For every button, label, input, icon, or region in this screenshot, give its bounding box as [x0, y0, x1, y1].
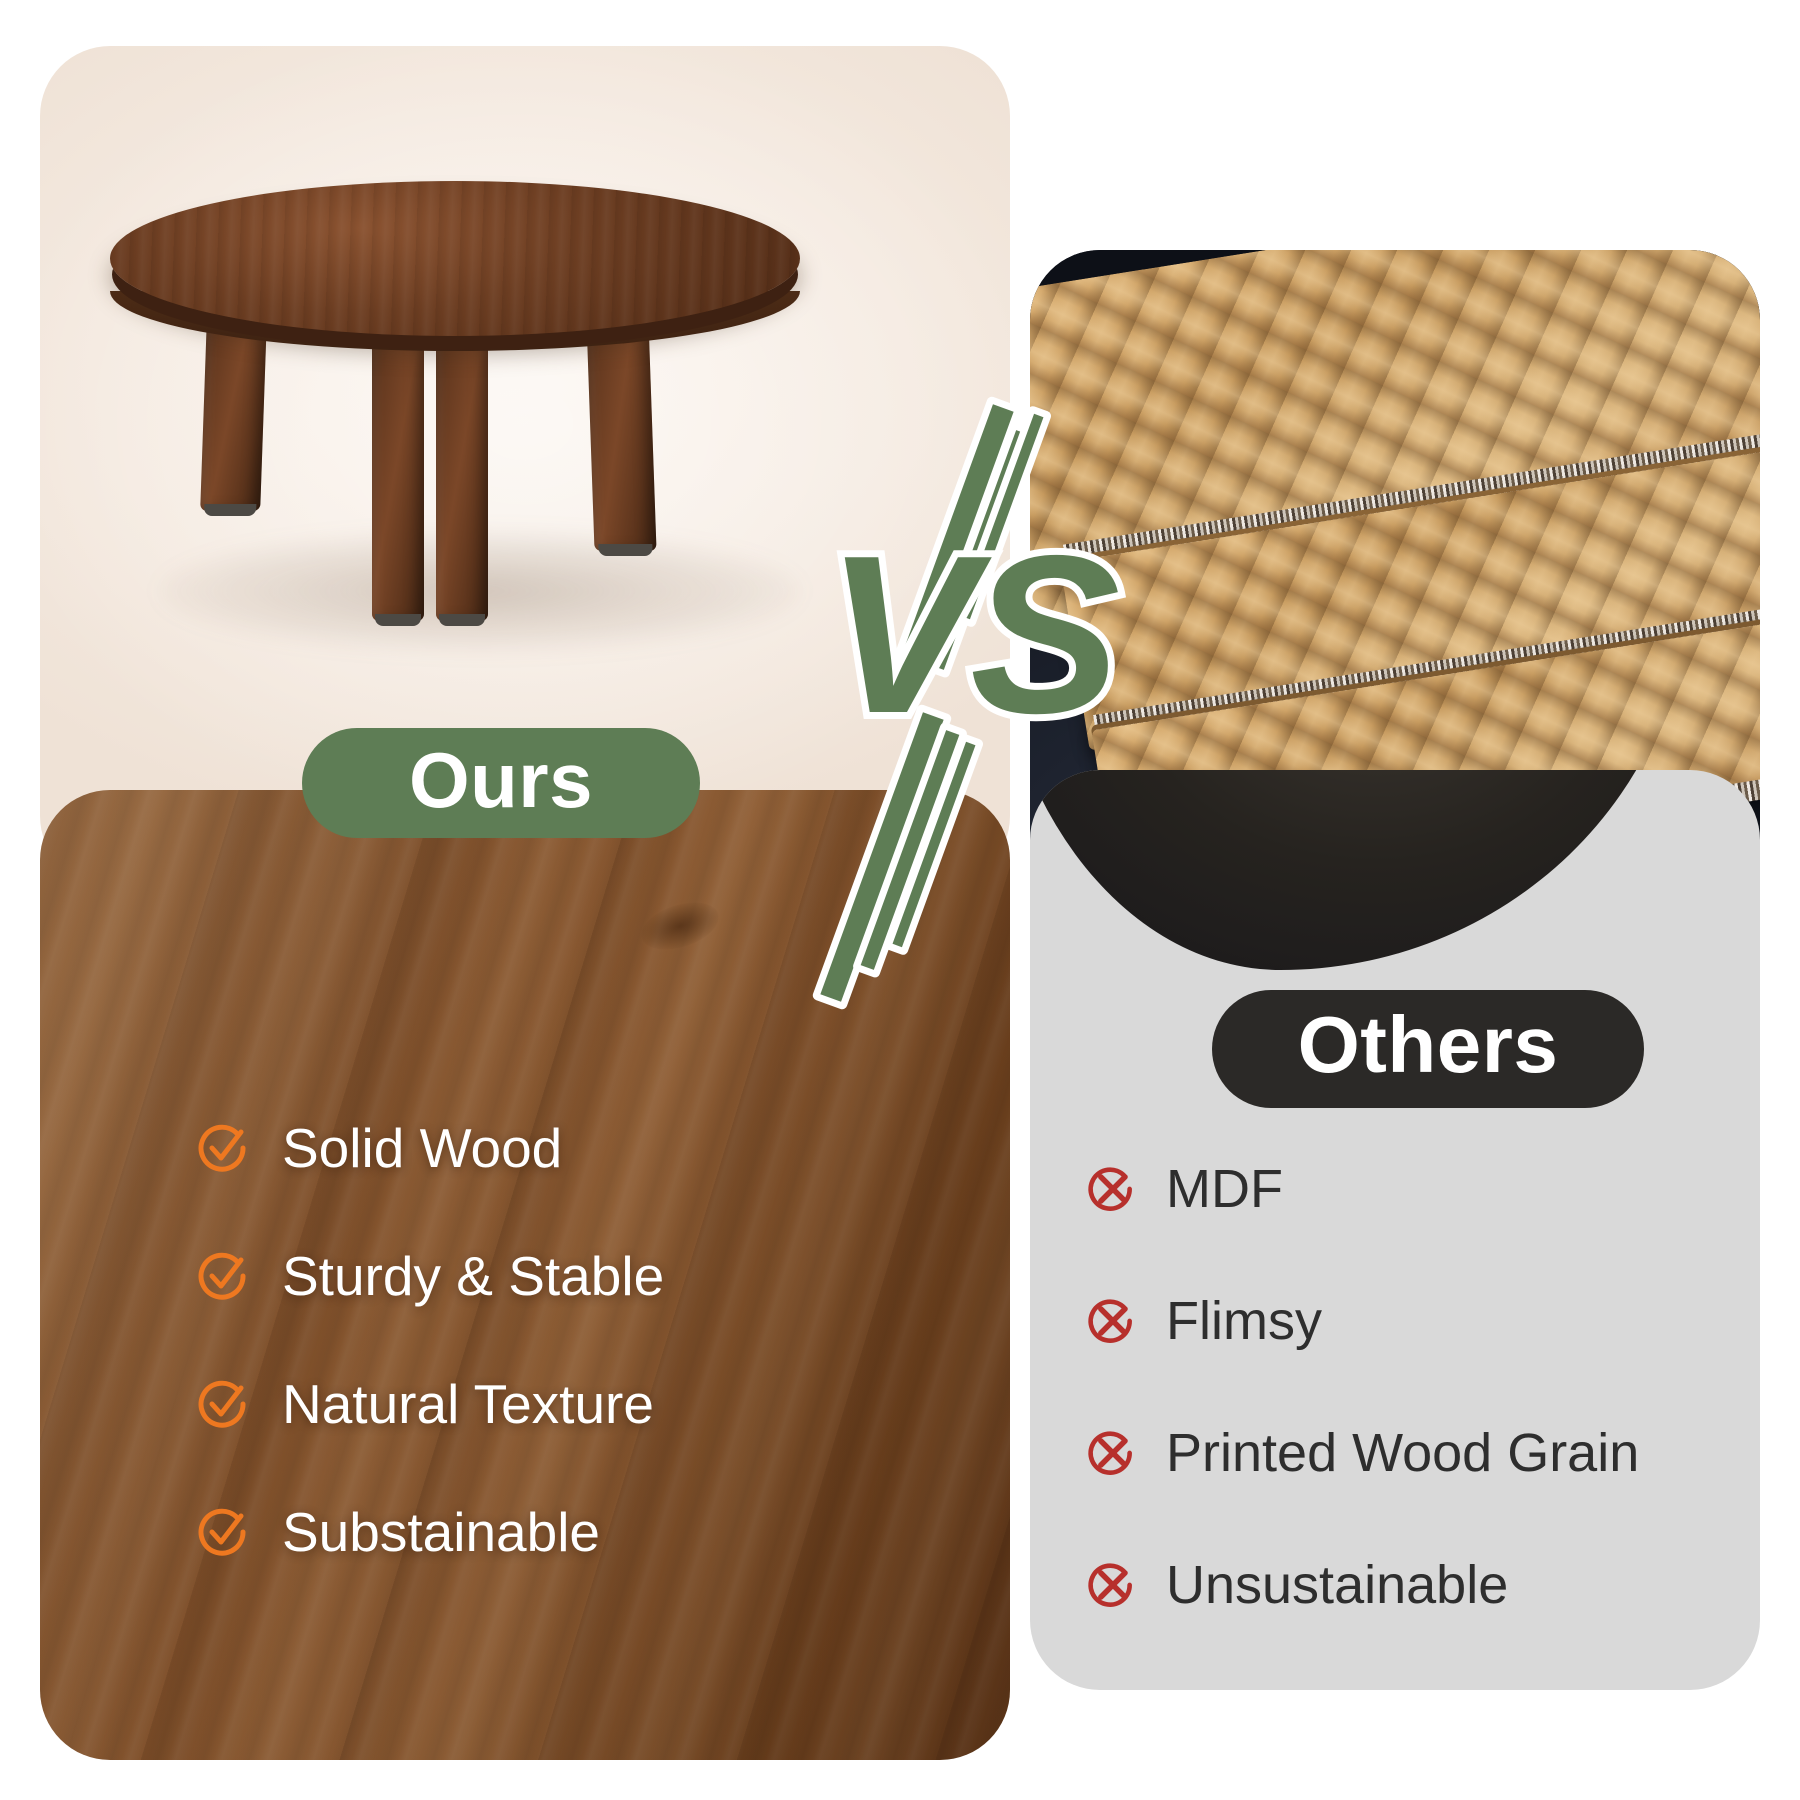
list-item-label: Natural Texture	[282, 1377, 654, 1432]
table-leg-center-b	[436, 311, 488, 621]
table-top-surface	[110, 181, 800, 336]
list-item: Solid Wood	[196, 1120, 664, 1176]
list-item-label: Unsustainable	[1166, 1558, 1508, 1612]
list-item: Flimsy	[1086, 1294, 1639, 1348]
others-feature-list: MDF Flimsy Printed Wood Grain	[1086, 1162, 1639, 1612]
cross-circle-icon	[1086, 1295, 1138, 1347]
ours-feature-list: Solid Wood Sturdy & Stable Natural Textu…	[196, 1120, 664, 1560]
others-badge: Others	[1212, 990, 1644, 1108]
cross-circle-icon	[1086, 1163, 1138, 1215]
round-dining-table-illustration	[100, 141, 880, 661]
list-item-label: Substainable	[282, 1505, 600, 1560]
list-item-label: Flimsy	[1166, 1294, 1322, 1348]
others-dark-blob	[1030, 770, 1690, 970]
list-item-label: Sturdy & Stable	[282, 1249, 664, 1304]
ours-badge: Ours	[302, 728, 700, 838]
list-item: Substainable	[196, 1504, 664, 1560]
list-item: MDF	[1086, 1162, 1639, 1216]
check-circle-icon	[196, 1248, 252, 1304]
list-item: Sturdy & Stable	[196, 1248, 664, 1304]
comparison-infographic: Solid Wood Sturdy & Stable Natural Textu…	[0, 0, 1800, 1800]
check-circle-icon	[196, 1120, 252, 1176]
table-leg-center-a	[372, 311, 424, 621]
list-item-label: Printed Wood Grain	[1166, 1426, 1639, 1480]
check-circle-icon	[196, 1504, 252, 1560]
list-item: Natural Texture	[196, 1376, 664, 1432]
list-item-label: MDF	[1166, 1162, 1283, 1216]
list-item-label: Solid Wood	[282, 1121, 562, 1176]
cross-circle-icon	[1086, 1559, 1138, 1611]
check-circle-icon	[196, 1376, 252, 1432]
list-item: Printed Wood Grain	[1086, 1426, 1639, 1480]
list-item: Unsustainable	[1086, 1558, 1639, 1612]
cross-circle-icon	[1086, 1427, 1138, 1479]
